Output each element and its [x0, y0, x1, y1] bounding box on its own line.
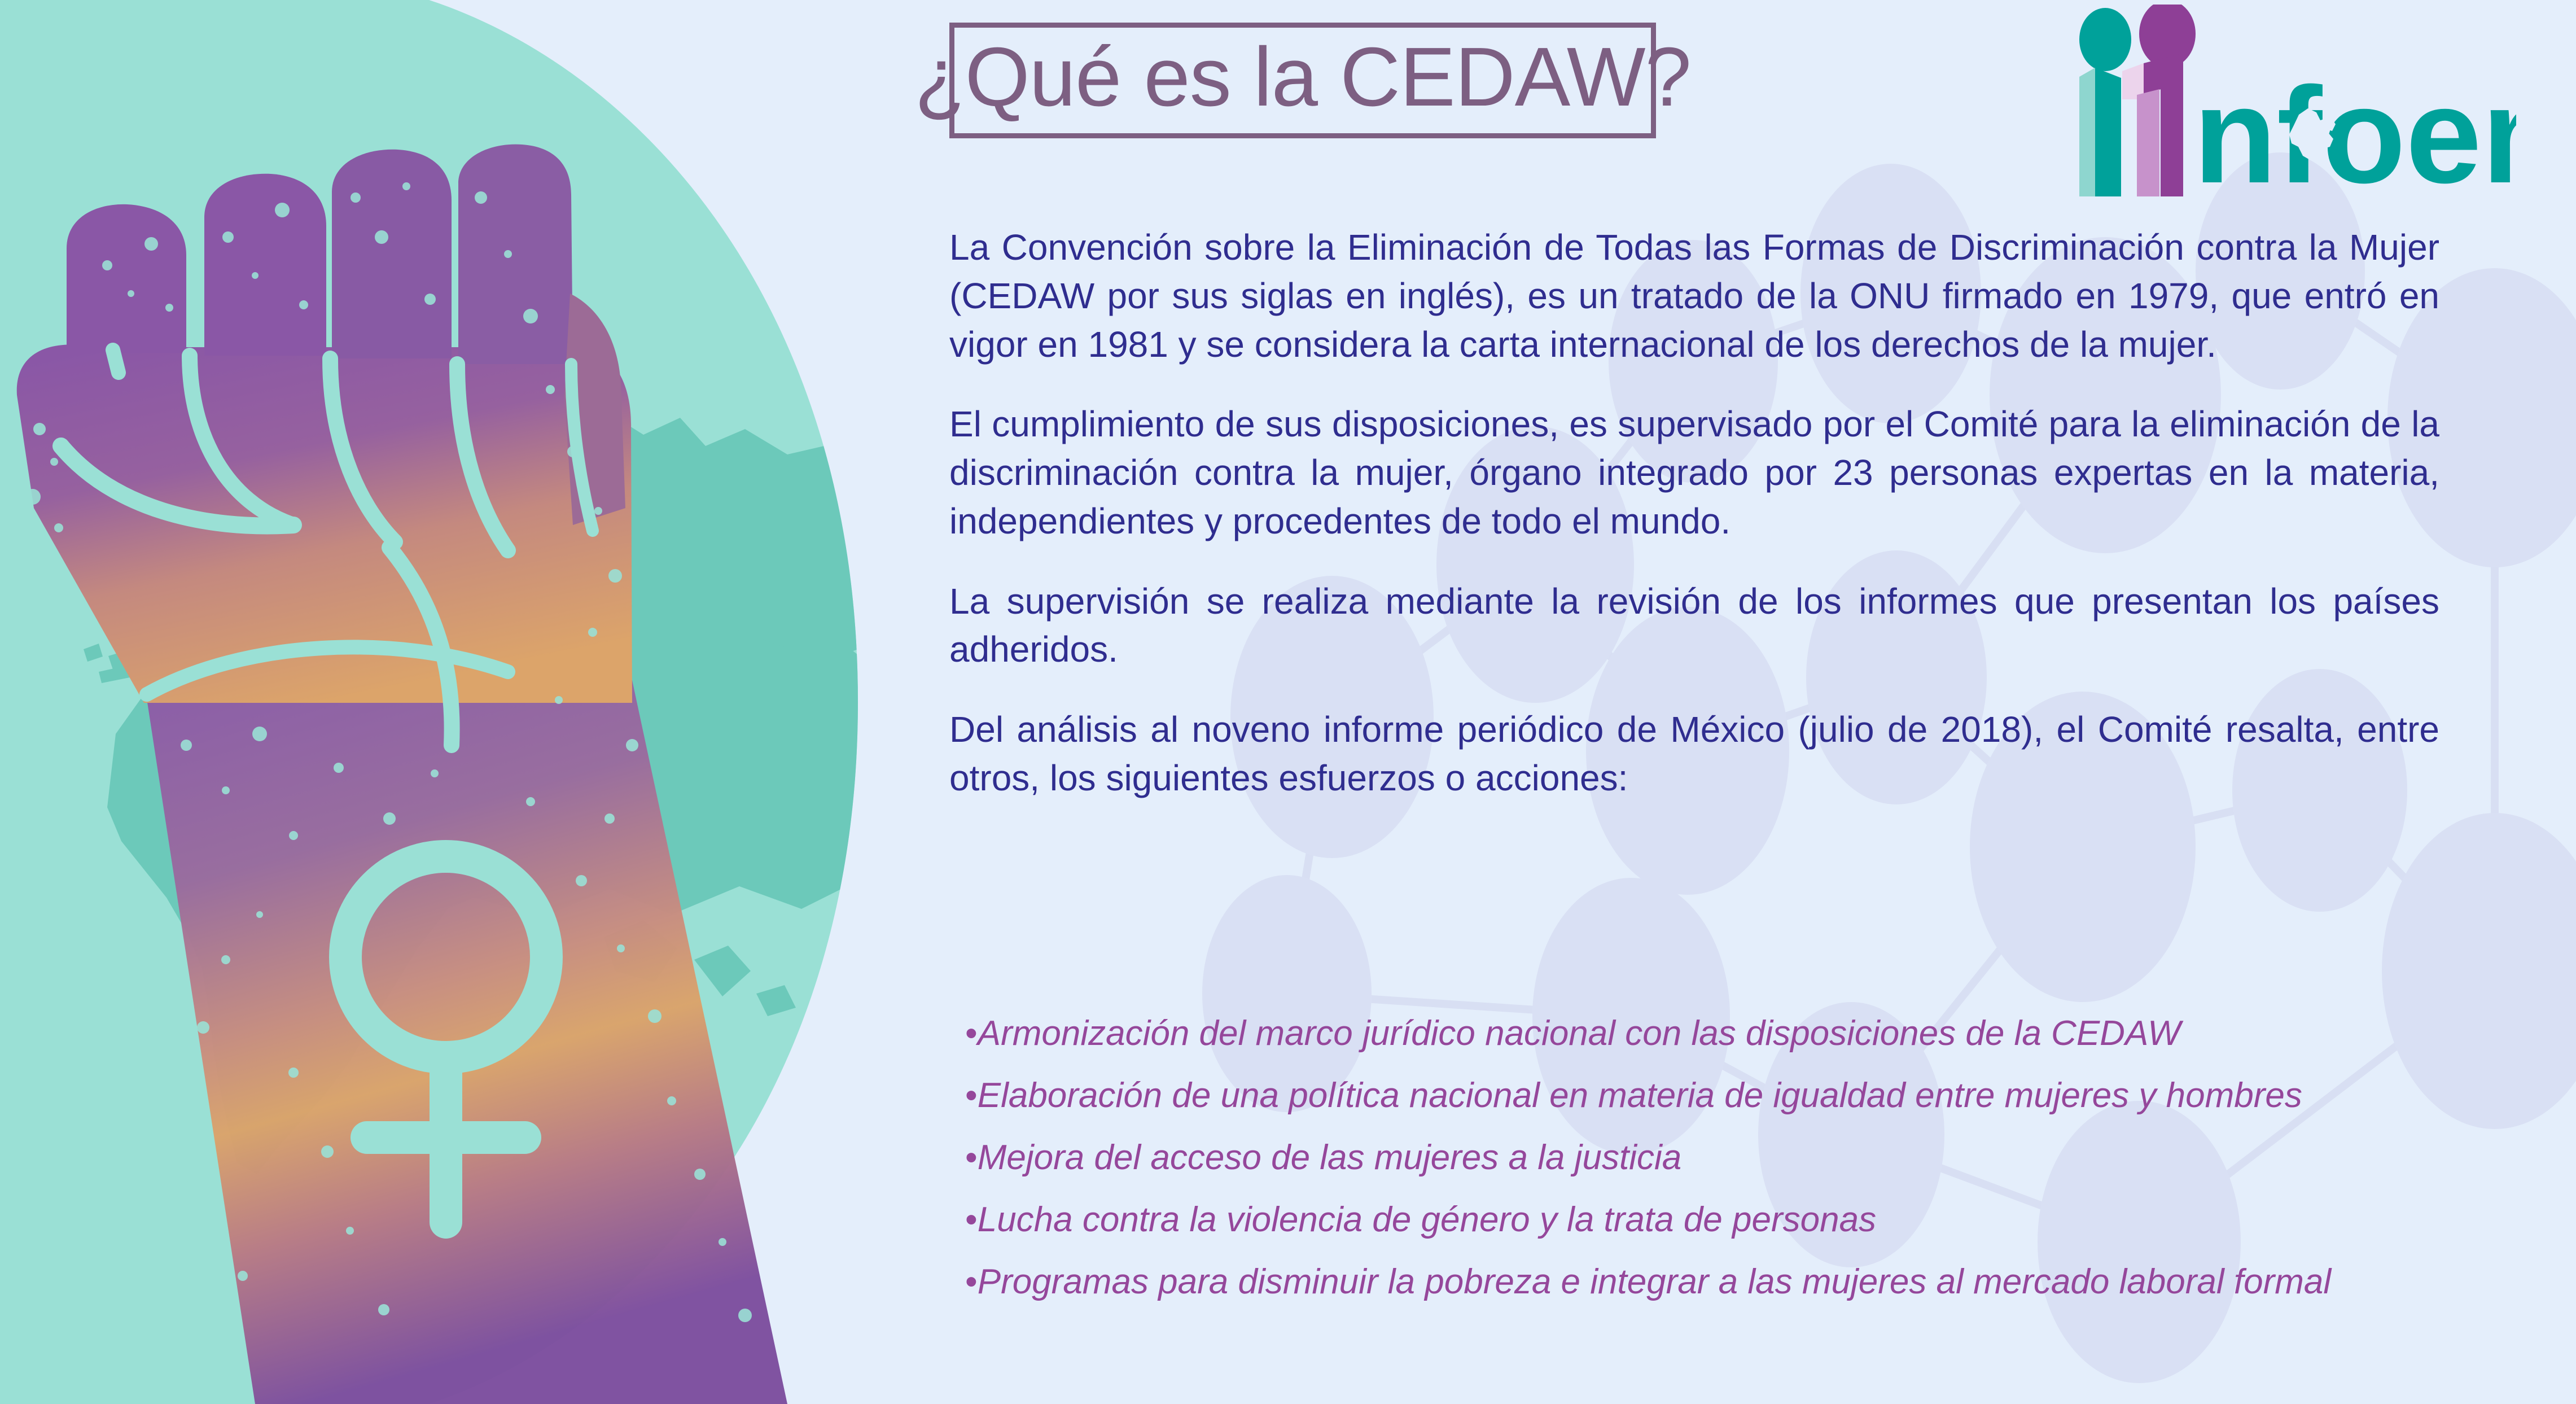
paragraph-2: El cumplimiento de sus disposiciones, es…: [949, 400, 2439, 545]
bullet-marker: •: [965, 1200, 978, 1239]
highlights-list: •Armonización del marco jurídico naciona…: [949, 1016, 2473, 1300]
raised-fist-graphic: [0, 0, 948, 1404]
list-item: •Armonización del marco jurídico naciona…: [949, 1016, 2473, 1051]
content-panel: ¿Qué es la CEDAW? nfoem: [937, 0, 2576, 1404]
bullet-marker: •: [965, 1076, 978, 1115]
list-item-label: Programas para disminuir la pobreza e in…: [978, 1262, 2331, 1301]
list-item: •Mejora del acceso de las mujeres a la j…: [949, 1140, 2473, 1175]
list-item: •Lucha contra la violencia de género y l…: [949, 1202, 2473, 1237]
bullet-marker: •: [965, 1014, 978, 1053]
list-item: •Programas para disminuir la pobreza e i…: [949, 1265, 2473, 1300]
list-item-label: Armonización del marco jurídico nacional…: [978, 1014, 2181, 1053]
list-item-label: Mejora del acceso de las mujeres a la ju…: [978, 1138, 1681, 1177]
paragraph-3: La supervisión se realiza mediante la re…: [949, 578, 2439, 675]
page-title: ¿Qué es la CEDAW?: [914, 36, 1691, 119]
body-copy: La Convención sobre la Eliminación de To…: [949, 224, 2439, 803]
logo-figure-teal: [2079, 8, 2131, 196]
fist-shape: [17, 145, 787, 1404]
bullet-marker: •: [965, 1262, 978, 1301]
infoem-logo[interactable]: nfoem: [2070, 5, 2516, 196]
bullet-marker: •: [965, 1138, 978, 1177]
illustration-panel: [0, 0, 948, 1404]
paragraph-1: La Convención sobre la Eliminación de To…: [949, 224, 2439, 369]
logo-figure-purple: [2122, 5, 2196, 196]
list-item-label: Lucha contra la violencia de género y la…: [978, 1200, 1876, 1239]
list-item-label: Elaboración de una política nacional en …: [978, 1076, 2302, 1115]
infographic-canvas: ¿Qué es la CEDAW? nfoem: [0, 0, 2576, 1404]
paragraph-4: Del análisis al noveno informe periódico…: [949, 706, 2439, 803]
logo-wordmark: nfoem: [2193, 59, 2516, 196]
page-title-box: ¿Qué es la CEDAW?: [949, 23, 1656, 138]
list-item: •Elaboración de una política nacional en…: [949, 1078, 2473, 1113]
